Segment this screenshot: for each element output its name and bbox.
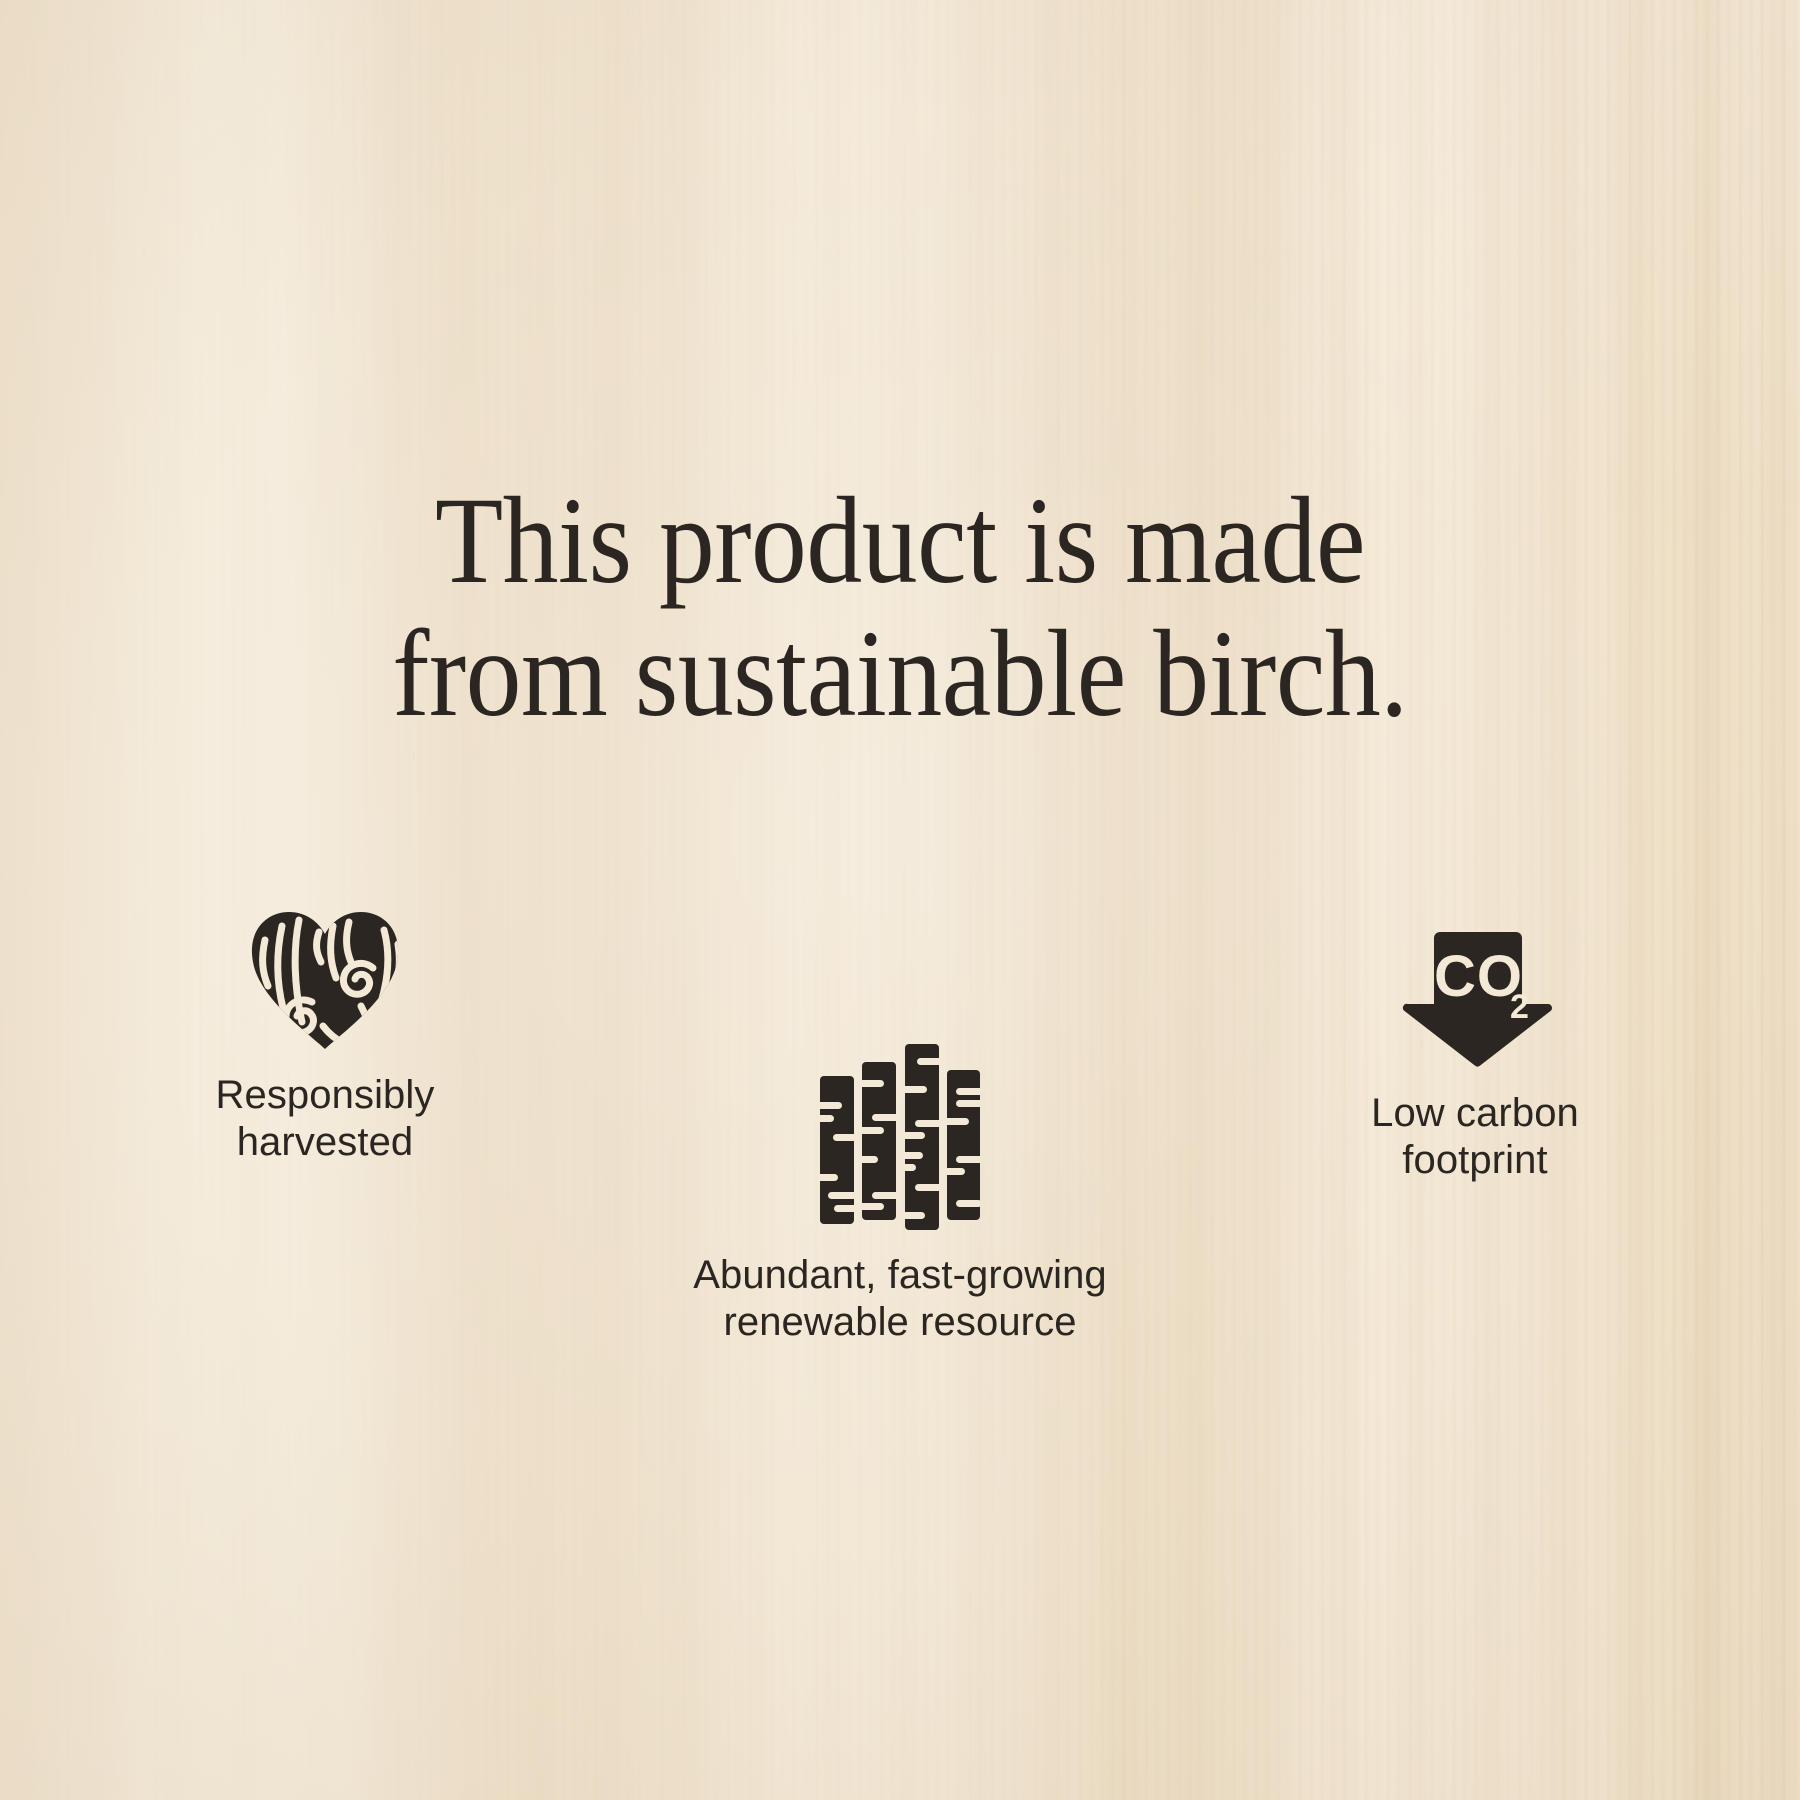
feature-low-carbon-footprint: CO 2 Low carbon footprint [1240,920,1710,1184]
feature-list: Responsibly harvested [0,880,1800,1360]
feature-renewable-resource: Abundant, fast-growing renewable resourc… [565,1040,1235,1346]
feature-caption: Responsibly harvested [90,1072,560,1166]
icon-slot [565,1040,1235,1230]
co2-subscript: 2 [1510,988,1529,1026]
icon-slot [90,900,560,1050]
feature-responsibly-harvested: Responsibly harvested [90,900,560,1166]
sustainability-panel: This product is made from sustainable bi… [0,0,1800,1800]
page-title: This product is made from sustainable bi… [90,475,1710,740]
icon-slot: CO 2 [1240,920,1710,1068]
woodgrain-heart-icon [249,910,401,1050]
co2-down-arrow-icon: CO 2 [1392,926,1558,1068]
feature-caption: Abundant, fast-growing renewable resourc… [565,1252,1235,1346]
birch-trees-icon [820,1044,980,1230]
feature-caption: Low carbon footprint [1240,1090,1710,1184]
